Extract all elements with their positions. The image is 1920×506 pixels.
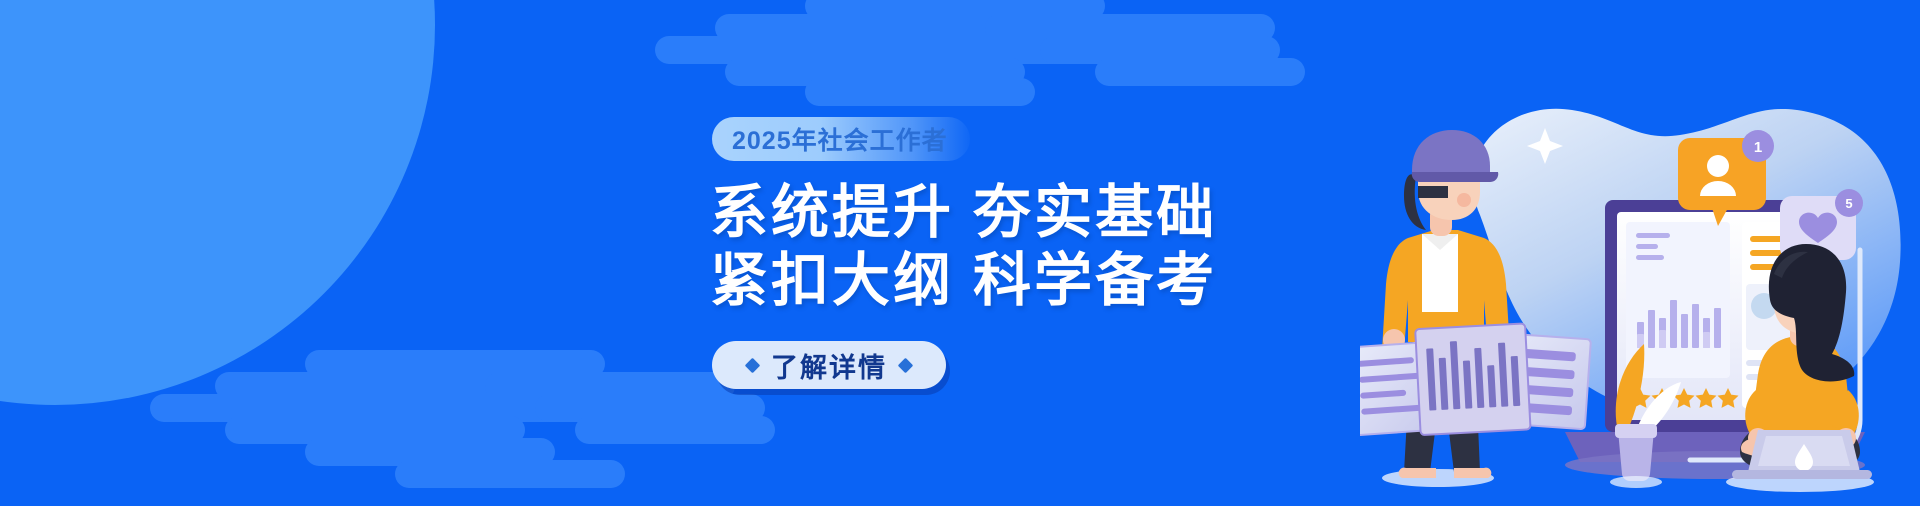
- like-badge-count: 5: [1845, 196, 1852, 211]
- user-icon: [1707, 155, 1729, 177]
- diamond-icon-left: [745, 358, 761, 374]
- headline-line-1: 系统提升 夯实基础: [710, 179, 1217, 247]
- data-dashboard-people-illustration: 1 5: [1360, 0, 1920, 506]
- course-year-tag-label: 2025年社会工作者: [732, 121, 948, 157]
- banner-content: 2025年社会工作者 系统提升 夯实基础 紧扣大纲 科学备考 了解详情: [710, 0, 1217, 506]
- decorative-circle-top-left: [0, 0, 435, 405]
- user-badge-count: 1: [1754, 139, 1762, 156]
- headline-line-2: 紧扣大纲 科学备考: [710, 247, 1217, 315]
- decorative-cloud-bottom: [95, 350, 715, 506]
- learn-more-button[interactable]: 了解详情: [712, 341, 946, 389]
- promo-banner: 2025年社会工作者 系统提升 夯实基础 紧扣大纲 科学备考 了解详情: [0, 0, 1920, 506]
- course-year-tag: 2025年社会工作者: [712, 117, 970, 161]
- learn-more-button-label: 了解详情: [771, 346, 887, 385]
- diamond-icon-right: [898, 358, 914, 374]
